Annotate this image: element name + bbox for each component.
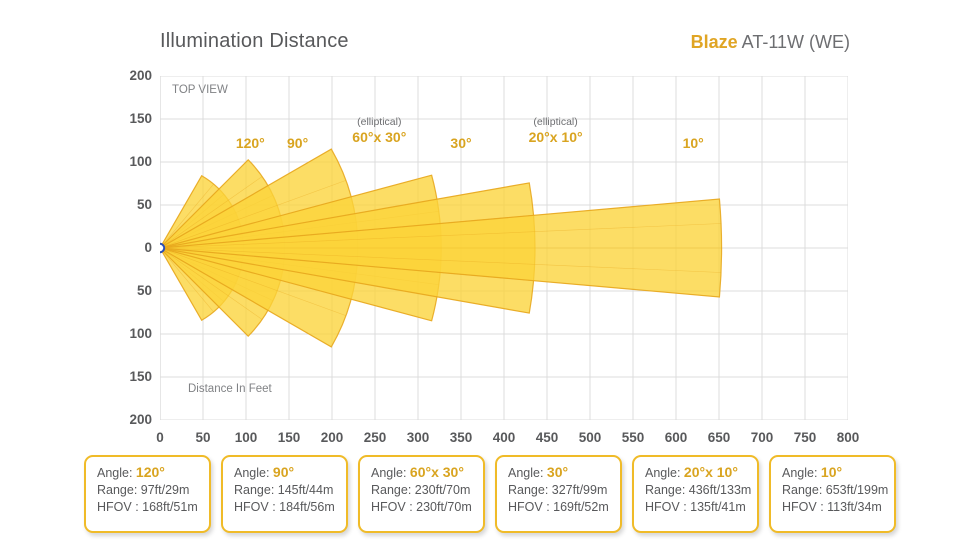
x-axis-tick: 50	[183, 430, 223, 445]
card-angle-value: 20°x 10°	[684, 464, 738, 480]
card-hfov-row: HFOV : 169ft/52m	[508, 499, 620, 516]
card-angle-row: Angle: 30°	[508, 464, 620, 482]
card-angle-row: Angle: 90°	[234, 464, 346, 482]
x-axis-tick: 550	[613, 430, 653, 445]
beam-angle-text: 60°x 30°	[352, 129, 406, 145]
beam-angle-text: 20°x 10°	[529, 129, 583, 145]
x-axis-tick: 250	[355, 430, 395, 445]
spec-card[interactable]: Angle: 60°x 30°Range: 230ft/70mHFOV : 23…	[358, 455, 485, 533]
spec-card[interactable]: Angle: 90°Range: 145ft/44mHFOV : 184ft/5…	[221, 455, 348, 533]
card-angle-value: 120°	[136, 464, 165, 480]
y-axis-tick: 0	[108, 240, 152, 255]
card-angle-label: Angle:	[645, 466, 684, 480]
card-angle-label: Angle:	[508, 466, 547, 480]
x-axis-tick: 350	[441, 430, 481, 445]
card-angle-row: Angle: 20°x 10°	[645, 464, 757, 482]
top-view-label: TOP VIEW	[172, 84, 228, 96]
x-axis-tick: 300	[398, 430, 438, 445]
card-range-row: Range: 145ft/44m	[234, 482, 346, 499]
y-axis-tick: 100	[108, 326, 152, 341]
beam-label-30: 30°	[416, 135, 506, 151]
spec-card[interactable]: Angle: 10°Range: 653ft/199mHFOV : 113ft/…	[769, 455, 896, 533]
card-angle-value: 90°	[273, 464, 294, 480]
y-axis-tick: 50	[108, 197, 152, 212]
card-range-row: Range: 327ft/99m	[508, 482, 620, 499]
y-axis-tick: 150	[108, 111, 152, 126]
card-hfov-row: HFOV : 113ft/34m	[782, 499, 894, 516]
figure-header: Illumination Distance Blaze AT-11W (WE)	[0, 0, 978, 70]
illumination-distance-figure: Illumination Distance Blaze AT-11W (WE) …	[0, 0, 978, 550]
card-angle-label: Angle:	[371, 466, 410, 480]
beam-angle-text: 10°	[683, 135, 704, 151]
x-axis-tick: 800	[828, 430, 868, 445]
x-axis-tick: 100	[226, 430, 266, 445]
origin-marker	[160, 244, 164, 252]
x-axis-tick: 200	[312, 430, 352, 445]
card-angle-label: Angle:	[234, 466, 273, 480]
chart-plot-area	[160, 76, 848, 420]
beam-label-60x30: (elliptical)60°x 30°	[334, 116, 424, 145]
card-angle-value: 10°	[821, 464, 842, 480]
card-angle-row: Angle: 60°x 30°	[371, 464, 483, 482]
y-axis-tick: 50	[108, 283, 152, 298]
card-angle-row: Angle: 120°	[97, 464, 209, 482]
beam-wedges	[160, 149, 722, 347]
card-hfov-row: HFOV : 230ft/70m	[371, 499, 483, 516]
x-axis-tick: 400	[484, 430, 524, 445]
beam-label-20x10: (elliptical)20°x 10°	[511, 116, 601, 145]
card-range-row: Range: 97ft/29m	[97, 482, 209, 499]
spec-card[interactable]: Angle: 120°Range: 97ft/29mHFOV : 168ft/5…	[84, 455, 211, 533]
y-axis-tick: 100	[108, 154, 152, 169]
x-axis-tick: 750	[785, 430, 825, 445]
beam-pattern-plot	[160, 76, 848, 420]
x-axis-tick: 700	[742, 430, 782, 445]
card-range-row: Range: 436ft/133m	[645, 482, 757, 499]
x-axis-tick: 650	[699, 430, 739, 445]
brand-label: Blaze AT-11W (WE)	[691, 32, 850, 53]
card-hfov-row: HFOV : 168ft/51m	[97, 499, 209, 516]
card-range-row: Range: 230ft/70m	[371, 482, 483, 499]
spec-card[interactable]: Angle: 30°Range: 327ft/99mHFOV : 169ft/5…	[495, 455, 622, 533]
card-angle-label: Angle:	[782, 466, 821, 480]
card-angle-label: Angle:	[97, 466, 136, 480]
x-axis-tick: 600	[656, 430, 696, 445]
card-angle-value: 30°	[547, 464, 568, 480]
x-axis-tick: 0	[140, 430, 180, 445]
distance-units-label: Distance In Feet	[188, 383, 272, 395]
x-axis-tick: 500	[570, 430, 610, 445]
x-axis-tick: 450	[527, 430, 567, 445]
beam-angle-text: 90°	[287, 135, 308, 151]
card-hfov-row: HFOV : 135ft/41m	[645, 499, 757, 516]
y-axis-tick: 200	[108, 68, 152, 83]
x-axis-tick: 150	[269, 430, 309, 445]
card-angle-row: Angle: 10°	[782, 464, 894, 482]
beam-angle-text: 30°	[450, 135, 471, 151]
y-axis-tick: 150	[108, 369, 152, 384]
spec-card[interactable]: Angle: 20°x 10°Range: 436ft/133mHFOV : 1…	[632, 455, 759, 533]
page-title: Illumination Distance	[160, 30, 349, 53]
brand-model: AT-11W (WE)	[742, 32, 850, 52]
beam-label-10: 10°	[648, 135, 738, 151]
beam-label-90: 90°	[253, 135, 343, 151]
elliptical-note: (elliptical)	[511, 116, 601, 128]
card-hfov-row: HFOV : 184ft/56m	[234, 499, 346, 516]
card-angle-value: 60°x 30°	[410, 464, 464, 480]
brand-name: Blaze	[691, 32, 738, 52]
elliptical-note: (elliptical)	[334, 116, 424, 128]
card-range-row: Range: 653ft/199m	[782, 482, 894, 499]
spec-cards: Angle: 120°Range: 97ft/29mHFOV : 168ft/5…	[84, 455, 896, 533]
y-axis-tick: 200	[108, 412, 152, 427]
